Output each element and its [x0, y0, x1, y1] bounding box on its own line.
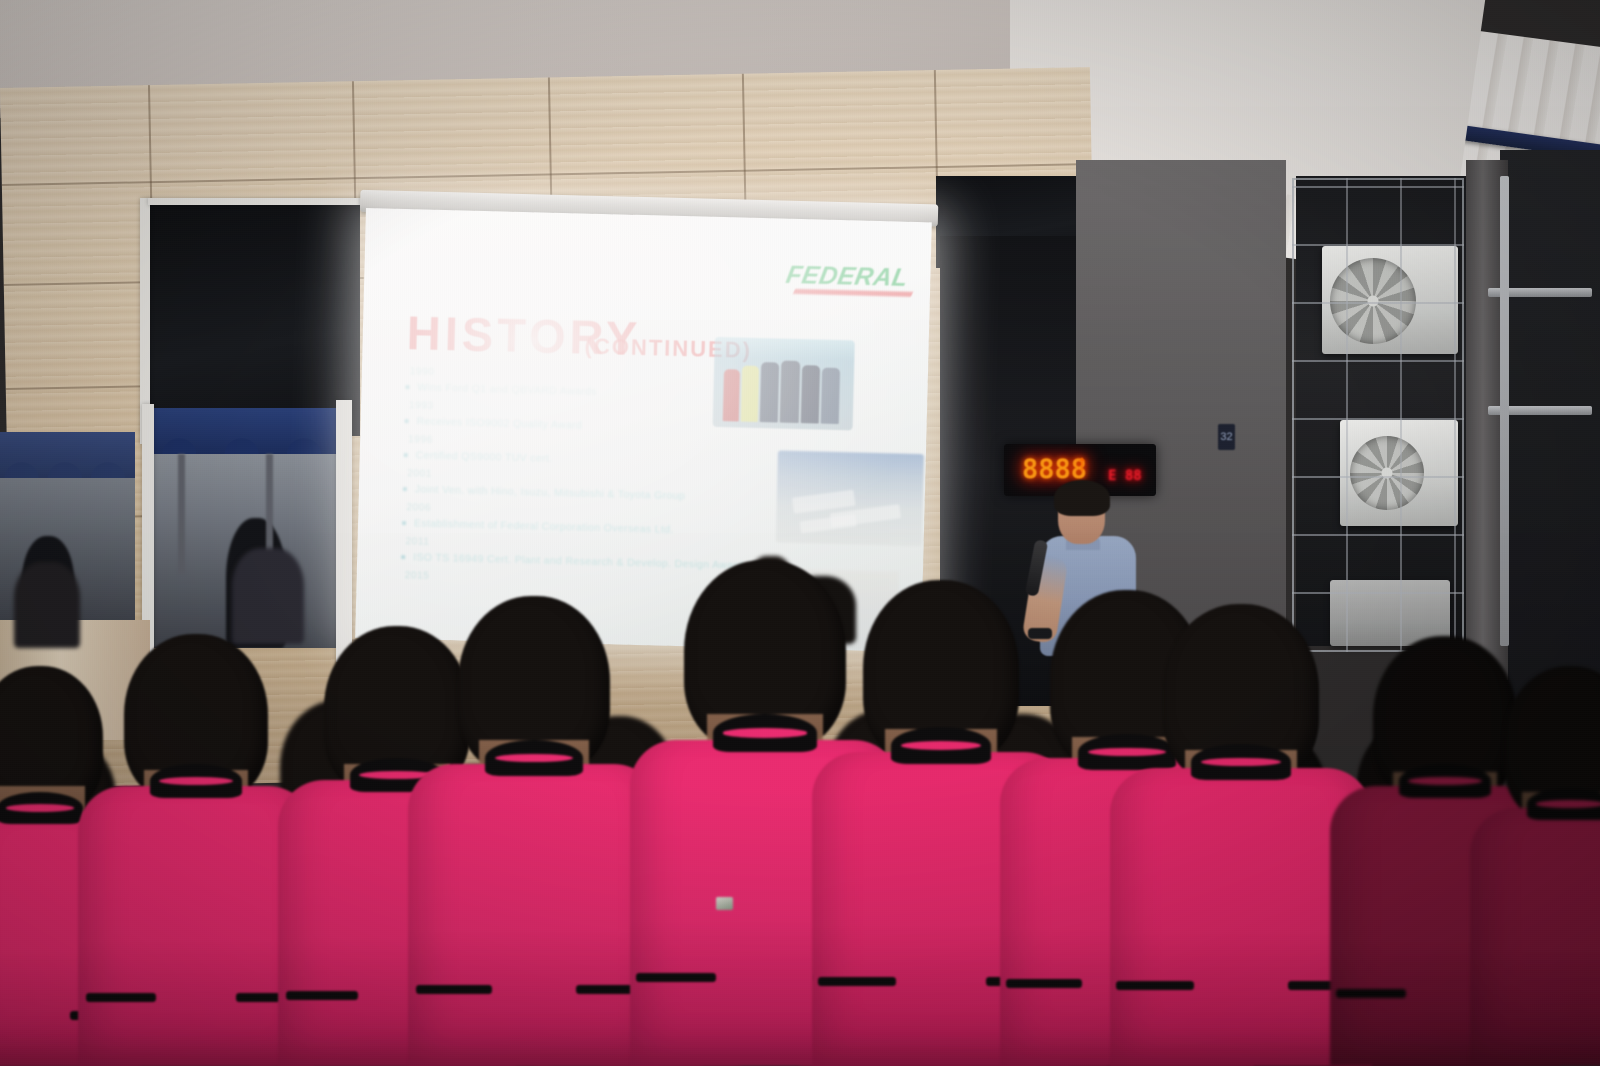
door-frame: [148, 198, 364, 205]
slide-bullet-text: Joint Ven. with Hino, Isuzu, Mitsubishi …: [415, 484, 685, 503]
wall-seam: [6, 385, 156, 390]
sleeve-trim: [86, 993, 156, 1002]
bullet-dot-icon: [403, 487, 407, 491]
slide-bullet-text: Wins Ford Q1 and QBVARD Awards: [417, 381, 597, 398]
sleeve-trim: [286, 991, 358, 1000]
polo-shirt: [408, 764, 660, 1066]
shirt-collar: [0, 792, 83, 824]
shirt-collar: [485, 740, 583, 776]
sleeve-trim: [636, 973, 716, 982]
shirt-collar: [891, 727, 991, 764]
slide-bullet-text: Establishment of Federal Corporation Ove…: [414, 518, 674, 537]
dark-glass-panel: [148, 204, 360, 436]
window-mullion: [178, 454, 185, 574]
wall-seam: [2, 163, 1092, 186]
shirt-collar: [1191, 744, 1291, 780]
bullet-dot-icon: [402, 521, 406, 525]
blue-curtain-valance: [0, 432, 135, 478]
bullet-dot-icon: [405, 419, 409, 423]
audience-member: [408, 596, 660, 1066]
shirt-shoulder-tag: [716, 897, 733, 910]
shirt-collar: [713, 714, 817, 752]
slide-group-photo: [713, 337, 855, 431]
audience-member: [1470, 666, 1600, 1066]
seminar-photo: 32 8888 ↑ E 88 FEDERAL HISTORY (CONTINUE…: [0, 0, 1600, 1066]
federal-logo: FEDERAL: [784, 261, 911, 293]
bullet-dot-icon: [401, 555, 405, 559]
shirt-collar: [1527, 788, 1600, 820]
slide-bullet-text: Certified QS9000 TUV cert.: [416, 449, 553, 465]
wall-seam: [742, 74, 747, 206]
shirt-collar: [150, 764, 242, 798]
sleeve-trim: [1006, 979, 1082, 988]
polo-shirt: [1470, 808, 1600, 1066]
sleeve-trim: [1116, 981, 1194, 990]
wall-sign: 32: [1218, 424, 1235, 450]
presenter-hair: [1054, 480, 1110, 516]
audience: [0, 560, 1600, 1066]
slide-aerial-factory-photo: [776, 451, 924, 547]
slide-bullet-text: Receives ISO9002 Quality Award: [416, 415, 582, 431]
blue-curtain-valance: [148, 408, 343, 454]
bullet-dot-icon: [404, 453, 408, 457]
bullet-dot-icon: [405, 385, 409, 389]
sleeve-trim: [416, 985, 492, 994]
led-arrow-icon: ↑: [1076, 450, 1088, 478]
sleeve-trim: [1336, 989, 1406, 998]
sleeve-trim: [818, 977, 896, 986]
